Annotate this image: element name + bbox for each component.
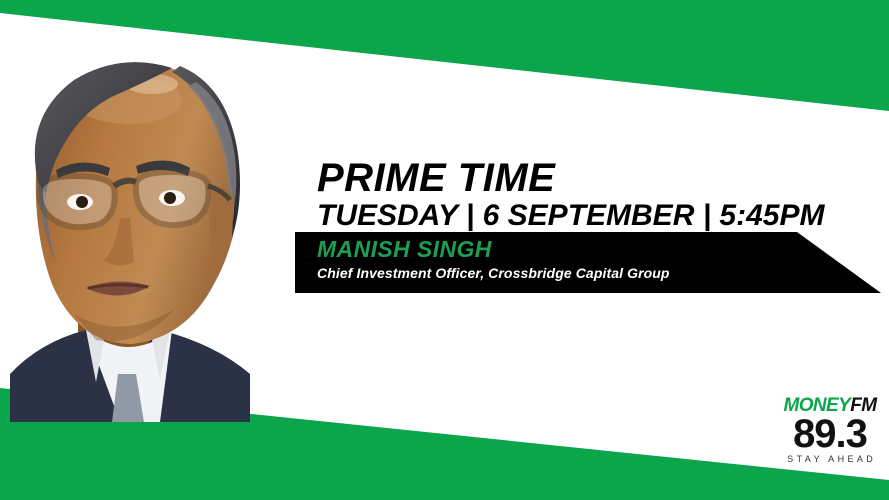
logo-tagline: STAY AHEAD (778, 454, 882, 465)
station-logo: MONEYFM 89.3 STAY AHEAD (778, 396, 882, 474)
guest-role: Chief Investment Officer, Crossbridge Ca… (317, 264, 837, 282)
logo-frequency: 89.3 (778, 413, 882, 455)
lower-third-banner: MANISH SINGH Chief Investment Officer, C… (295, 232, 881, 293)
guest-name: MANISH SINGH (317, 236, 837, 263)
show-title: PRIME TIME (317, 158, 877, 198)
guest-portrait-illustration (0, 22, 305, 422)
title-block: PRIME TIME TUESDAY | 6 SEPTEMBER | 5:45P… (317, 158, 877, 232)
promo-graphic: PRIME TIME TUESDAY | 6 SEPTEMBER | 5:45P… (0, 0, 889, 500)
guest-portrait (0, 22, 305, 422)
lower-third-text: MANISH SINGH Chief Investment Officer, C… (317, 236, 837, 282)
show-schedule: TUESDAY | 6 SEPTEMBER | 5:45PM (317, 200, 877, 232)
